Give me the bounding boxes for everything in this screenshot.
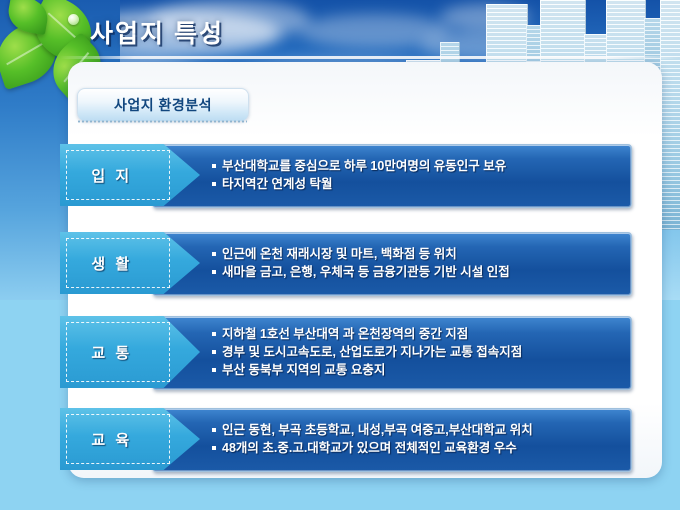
bullet-item: 인근에 온천 재래시장 및 마트, 백화점 등 위치 [212, 245, 624, 263]
bullet-item: 지하철 1호선 부산대역 과 온천장역의 중간 지점 [212, 325, 624, 343]
row-bullets: 지하철 1호선 부산대역 과 온천장역의 중간 지점 경부 및 도시고속도로, … [212, 316, 624, 388]
row-bullets: 인근에 온천 재래시장 및 마트, 백화점 등 위치 새마을 금고, 은행, 우… [212, 232, 624, 294]
bullet-dot [212, 446, 216, 450]
row-bullets: 부산대학교를 중심으로 하루 10만여명의 유동인구 보유 타지역간 연계성 탁… [212, 144, 624, 206]
bullet-dot [212, 428, 216, 432]
bullet-item: 48개의 초.중.고.대학교가 있으며 전체적인 교육환경 우수 [212, 439, 624, 457]
water-droplet-icon [68, 14, 79, 25]
bullet-item: 경부 및 도시고속도로, 산업도로가 지나가는 교통 접속지점 [212, 343, 624, 361]
page-title: 사업지 특성 [90, 14, 224, 50]
bullet-dot [212, 164, 216, 168]
section-badge: 사업지 환경분석 [77, 88, 249, 121]
row-label: 입 지 [60, 165, 164, 186]
bullet-dot [212, 270, 216, 274]
bullet-item: 부산 동북부 지역의 교통 요충지 [212, 361, 624, 379]
bullet-item: 부산대학교를 중심으로 하루 10만여명의 유동인구 보유 [212, 157, 624, 175]
bullet-item: 인근 동현, 부곡 초등학교, 내성,부곡 여중고,부산대학교 위치 [212, 421, 624, 439]
bullet-dot [212, 182, 216, 186]
bullet-item: 새마을 금고, 은행, 우체국 등 금융기관등 기반 시설 인접 [212, 263, 624, 281]
bullet-dot [212, 252, 216, 256]
row-label: 교 육 [60, 429, 164, 450]
section-badge-label: 사업지 환경분석 [114, 95, 212, 115]
section-badge-underline [77, 120, 247, 123]
bullet-dot [212, 350, 216, 354]
bullet-item: 타지역간 연계성 탁월 [212, 175, 624, 193]
row-label: 생 활 [60, 253, 164, 274]
bullet-dot [212, 332, 216, 336]
row-bullets: 인근 동현, 부곡 초등학교, 내성,부곡 여중고,부산대학교 위치 48개의 … [212, 408, 624, 470]
title-divider [60, 56, 680, 59]
row-label: 교 통 [60, 342, 164, 363]
bullet-dot [212, 368, 216, 372]
slide: 사업지 특성 사업지 환경분석 부산대학교를 중심으로 하루 10만여명의 유동… [0, 0, 680, 510]
